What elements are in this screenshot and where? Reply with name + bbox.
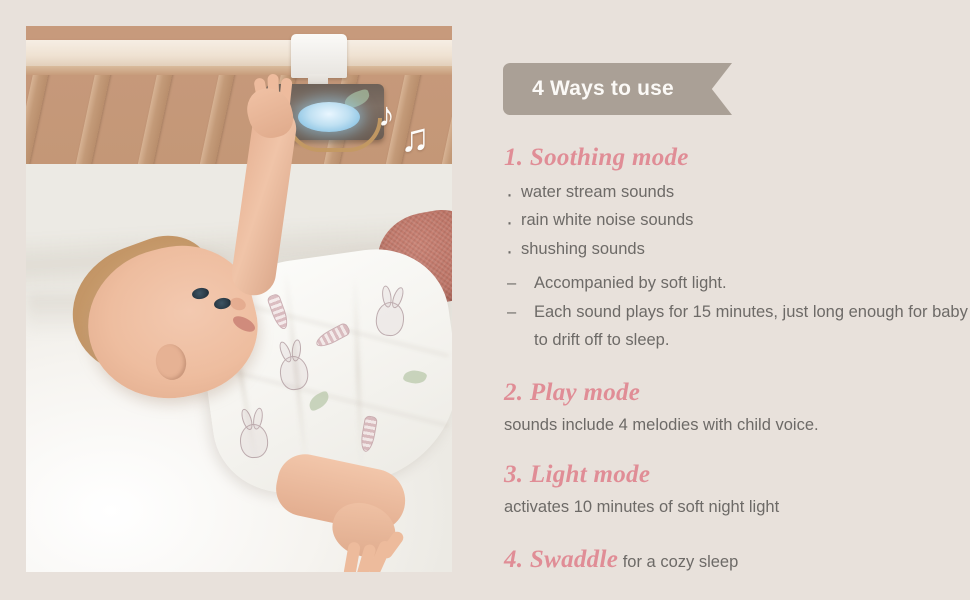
swaddle-description: for a cozy sleep — [623, 553, 739, 571]
light-mode-description: activates 10 minutes of soft night light — [504, 495, 970, 520]
product-photo: ♪ ♫ — [26, 26, 452, 572]
list-item: shushing sounds — [504, 235, 970, 263]
section-swaddle: 4. Swaddle for a cozy sleep — [504, 546, 970, 574]
banner-title: 4 Ways to use — [503, 63, 703, 115]
list-item: Accompanied by soft light. — [504, 269, 970, 298]
music-note-large-icon: ♫ — [400, 118, 430, 158]
soothing-mode-bullets: water stream sounds rain white noise sou… — [504, 178, 970, 263]
play-mode-title: 2. Play mode — [504, 379, 970, 407]
list-item: rain white noise sounds — [504, 206, 970, 234]
light-mode-title: 3. Light mode — [504, 461, 970, 489]
list-item: water stream sounds — [504, 178, 970, 206]
soothing-mode-notes: Accompanied by soft light. Each sound pl… — [504, 269, 970, 355]
info-panel: 4 Ways to use 1. Soothing mode water str… — [500, 0, 970, 600]
play-mode-description: sounds include 4 melodies with child voi… — [504, 413, 970, 438]
section-light-mode: 3. Light mode activates 10 minutes of so… — [504, 461, 970, 520]
modes-list: 1. Soothing mode water stream sounds rai… — [504, 144, 970, 578]
swaddle-line: 4. Swaddle for a cozy sleep — [504, 553, 738, 571]
music-note-icon: ♪ — [378, 98, 395, 132]
soothing-mode-title: 1. Soothing mode — [504, 144, 970, 172]
swaddle-title: 4. Swaddle — [504, 546, 618, 573]
device-clamp — [291, 34, 347, 78]
section-play-mode: 2. Play mode sounds include 4 melodies w… — [504, 379, 970, 438]
section-soothing-mode: 1. Soothing mode water stream sounds rai… — [504, 144, 970, 355]
list-item: Each sound plays for 15 minutes, just lo… — [504, 298, 970, 355]
device-arc-handle — [286, 118, 382, 152]
